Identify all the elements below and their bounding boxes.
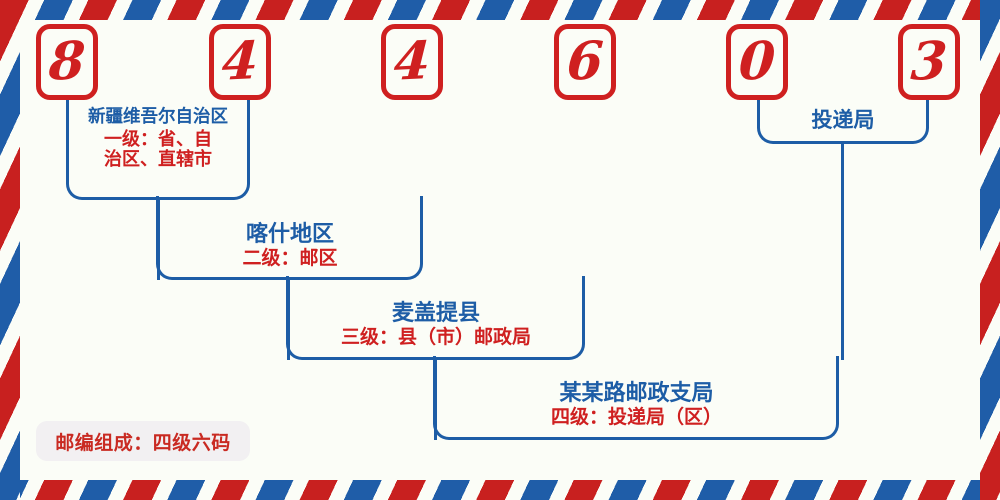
level-1-tier-line-1: 一级：省、自 [62, 130, 254, 151]
postcode-digit-4-box: 6 [554, 24, 616, 100]
level-4-region-name: 某某路邮政支局 [437, 381, 836, 406]
postcode-digit-1-box: 8 [36, 24, 98, 100]
legend-badge: 邮编组成：四级六码 [36, 421, 250, 461]
level-1-tier-line-2: 治区、直辖市 [62, 150, 254, 171]
postcode-digit-1-glyph: 8 [47, 35, 86, 89]
level-3-label: 麦盖提县 三级：县（市）邮政局 [290, 301, 582, 349]
postcode-digit-3-glyph: 4 [392, 35, 431, 89]
level-4-tier: 四级：投递局（区） [437, 407, 836, 429]
level-3-region-name: 麦盖提县 [290, 301, 582, 326]
level-2-label: 喀什地区 二级：邮区 [160, 222, 420, 270]
postcode-digit-5-glyph: 0 [737, 35, 776, 89]
level-1-region-name: 新疆维吾尔自治区 [62, 108, 254, 128]
legend-text: 邮编组成：四级六码 [55, 428, 231, 455]
postcode-digit-6-glyph: 3 [909, 35, 948, 89]
delivery-office-name: 投递局 [761, 108, 925, 132]
postcode-digit-2-box: 4 [209, 24, 271, 100]
level-2-tier: 二级：邮区 [160, 248, 420, 270]
postcode-digit-4-glyph: 6 [565, 35, 604, 89]
delivery-office-to-level-4-connector [841, 144, 844, 360]
level-1-label: 新疆维吾尔自治区 一级：省、自 治区、直辖市 [62, 108, 254, 171]
postcode-digit-6-box: 3 [898, 24, 960, 100]
level-2-region-name: 喀什地区 [160, 222, 420, 247]
postal-code-diagram: 8 4 4 6 0 3 新疆维吾尔自治区 一级：省、自 治区、直辖市 喀什地区 [0, 0, 1000, 500]
level-4-label: 某某路邮政支局 四级：投递局（区） [437, 381, 836, 429]
postcode-digit-2-glyph: 4 [220, 35, 259, 89]
postcode-digit-3-box: 4 [381, 24, 443, 100]
level-3-tier: 三级：县（市）邮政局 [290, 327, 582, 349]
postcode-digit-5-box: 0 [726, 24, 788, 100]
delivery-office-label: 投递局 [761, 108, 925, 132]
